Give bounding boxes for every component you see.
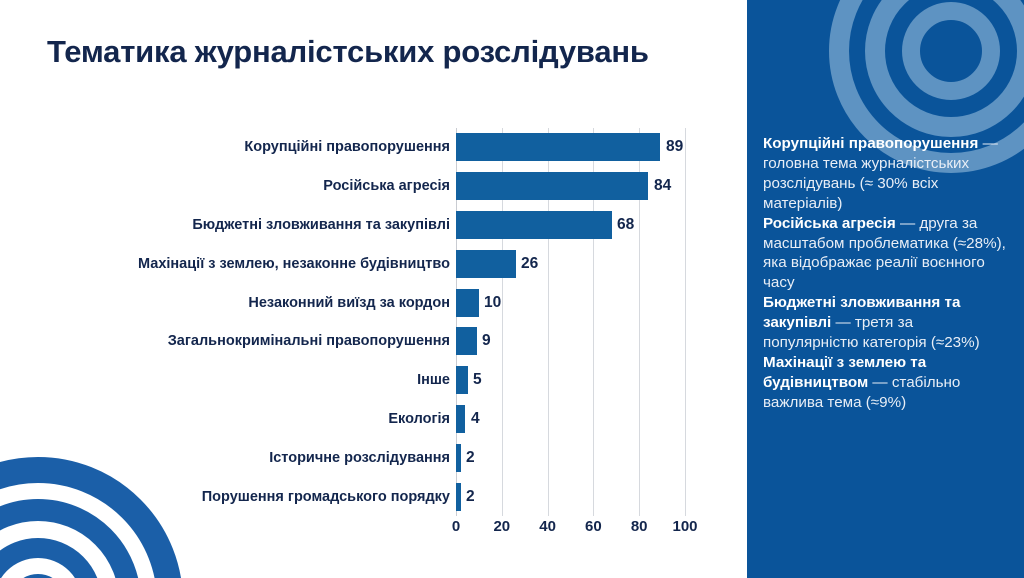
bar-row[interactable]: Російська агресія 84 [0, 167, 740, 206]
bar-rect [456, 483, 461, 511]
bar-rows: Корупційні правопорушення 89 Російська а… [0, 128, 740, 516]
bar-category-label: Інше [0, 372, 450, 388]
bar-category-label: Загальнокримінальні правопорушення [0, 333, 450, 349]
bar-category-label: Бюджетні зловживання та закупівлі [0, 217, 450, 233]
bar-value-label: 9 [482, 332, 491, 350]
bar-rect [456, 211, 612, 239]
bar-row[interactable]: Незаконний виїзд за кордон 10 [0, 283, 740, 322]
bar-value-label: 89 [666, 138, 683, 156]
bar-value-label: 4 [471, 410, 480, 428]
bar-row[interactable]: Інше 5 [0, 361, 740, 400]
page-title: Тематика журналістських розслідувань [47, 34, 649, 70]
bar-row[interactable]: Махінації з землею, незаконне будівництв… [0, 244, 740, 283]
x-tick: 40 [539, 518, 556, 535]
bar-value-label: 10 [484, 294, 501, 312]
x-tick: 60 [585, 518, 602, 535]
x-tick: 80 [631, 518, 648, 535]
bar-row[interactable]: Історичне розслідування 2 [0, 438, 740, 477]
bar-value-label: 26 [521, 255, 538, 273]
x-tick: 20 [493, 518, 510, 535]
bar-category-label: Порушення громадського порядку [0, 489, 450, 505]
slide-canvas: Тематика журналістських розслідувань Кор… [0, 0, 1024, 578]
bar-category-label: Російська агресія [0, 178, 450, 194]
insight-item: Корупційні правопорушення — головна тема… [763, 134, 1009, 214]
bar-rect [456, 250, 516, 278]
bar-row[interactable]: Бюджетні зловживання та закупівлі 68 [0, 206, 740, 245]
bar-rect [456, 289, 479, 317]
x-tick: 0 [452, 518, 460, 535]
bar-rect [456, 444, 461, 472]
bar-category-label: Екологія [0, 411, 450, 427]
bar-rect [456, 133, 660, 161]
bar-value-label: 5 [473, 371, 482, 389]
insight-item: Бюджетні зловживання та закупівлі — трет… [763, 293, 1009, 353]
bar-chart: Корупційні правопорушення 89 Російська а… [0, 128, 740, 548]
bar-rect [456, 327, 477, 355]
insight-term: Корупційні правопорушення [763, 135, 978, 152]
bar-value-label: 68 [617, 216, 634, 234]
bar-value-label: 2 [466, 488, 475, 506]
insights-panel: Корупційні правопорушення — головна тема… [747, 0, 1024, 578]
bar-category-label: Махінації з землею, незаконне будівництв… [0, 256, 450, 272]
bar-row[interactable]: Екологія 4 [0, 400, 740, 439]
bar-rect [456, 366, 468, 394]
x-tick: 100 [672, 518, 697, 535]
bar-row[interactable]: Порушення громадського порядку 2 [0, 477, 740, 516]
insight-term: Російська агресія [763, 215, 896, 232]
insight-item: Російська агресія — друга за масштабом п… [763, 214, 1009, 294]
insights-text: Корупційні правопорушення — головна тема… [763, 134, 1009, 413]
bar-category-label: Незаконний виїзд за кордон [0, 295, 450, 311]
bar-row[interactable]: Загальнокримінальні правопорушення 9 [0, 322, 740, 361]
bar-rect [456, 172, 648, 200]
bar-category-label: Корупційні правопорушення [0, 139, 450, 155]
bar-value-label: 2 [466, 449, 475, 467]
insight-item: Махінації з землею та будівництвом — ста… [763, 353, 1009, 413]
bar-value-label: 84 [654, 177, 671, 195]
x-axis: 0 20 40 60 80 100 [456, 518, 685, 544]
bar-category-label: Історичне розслідування [0, 450, 450, 466]
bar-rect [456, 405, 465, 433]
bar-row[interactable]: Корупційні правопорушення 89 [0, 128, 740, 167]
